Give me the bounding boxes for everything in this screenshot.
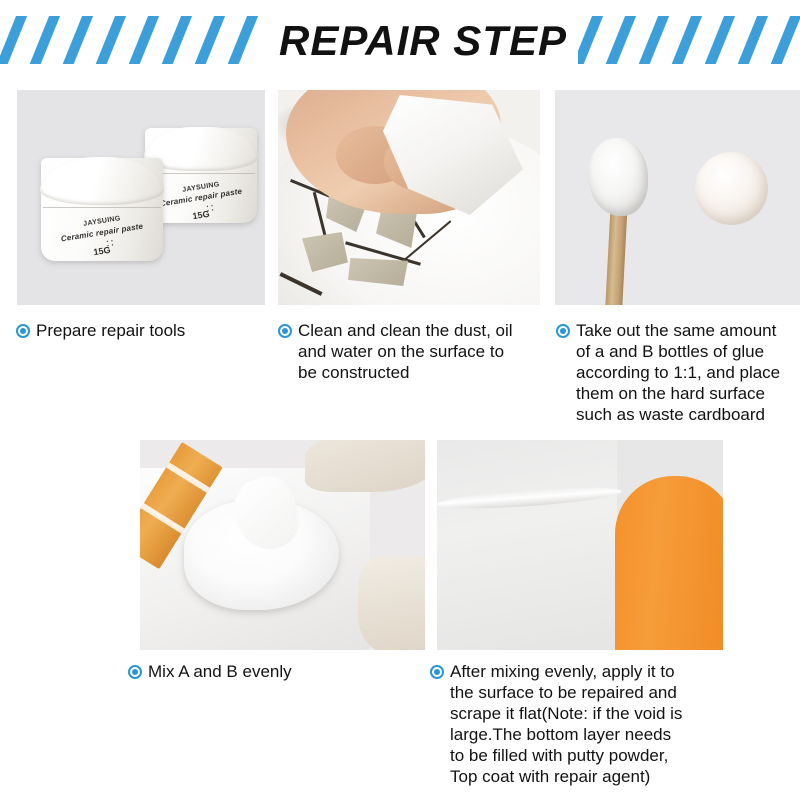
step-image-dispense-glue [555,90,800,305]
step-image-clean-surface [278,90,540,305]
step-caption-2-text: Clean and clean the dust, oil and water … [298,320,513,383]
step-image-prepare-tools: JAYSUING Ceramic repair paste ∷ 15G JAYS… [17,90,265,305]
repair-step-infographic: REPAIR STEP JAYSUING Ceramic repair past… [0,0,800,800]
diagonal-stripe [125,16,161,64]
diagonal-stripe [191,16,227,64]
cloth-right [358,556,425,650]
jar-front: JAYSUING Ceramic repair paste ∷ 15G [41,158,163,261]
step-image-apply-and-scrape [437,440,723,650]
radio-bullet-icon [556,324,570,338]
header-stripes-left [0,16,262,64]
step-caption-4: Mix A and B evenly [128,661,418,682]
diagonal-stripe [668,16,704,64]
jar-front-seam [43,207,161,208]
diagonal-stripe [158,16,194,64]
stick-band-2 [141,503,185,534]
paste-ball [695,152,768,225]
header-banner: REPAIR STEP [0,8,800,70]
jar-back-seam [147,173,255,174]
diagonal-stripe [602,16,638,64]
radio-bullet-icon [430,665,444,679]
step-image-mix-evenly [140,440,425,650]
jar-front-lid [40,157,164,205]
step-caption-3-text: Take out the same amount of a and B bott… [576,320,800,425]
stick-band-1 [166,462,210,493]
step-caption-1: Prepare repair tools [16,320,266,341]
diagonal-stripe [92,16,128,64]
diagonal-stripe [224,16,260,64]
radio-bullet-icon [128,665,142,679]
step-caption-2: Clean and clean the dust, oil and water … [278,320,553,383]
diagonal-stripe [767,16,800,64]
radio-bullet-icon [278,324,292,338]
paste-blob-on-swab [588,138,648,216]
diagonal-stripe [701,16,737,64]
orange-scraper [615,476,723,650]
page-title: REPAIR STEP [258,16,588,66]
radio-bullet-icon [16,324,30,338]
step-caption-5-text: After mixing evenly, apply it to the sur… [450,661,682,787]
step-caption-3: Take out the same amount of a and B bott… [556,320,800,425]
repaired-surface [437,440,617,650]
diagonal-stripe [59,16,95,64]
step-caption-1-text: Prepare repair tools [36,320,185,341]
diagonal-stripe [26,16,62,64]
diagonal-stripe [0,16,30,64]
header-stripes-right [578,16,800,64]
diagonal-stripe [635,16,671,64]
step-caption-5: After mixing evenly, apply it to the sur… [430,661,730,787]
diagonal-stripe [734,16,770,64]
step-caption-4-text: Mix A and B evenly [148,661,292,682]
cloth-top [305,440,425,492]
